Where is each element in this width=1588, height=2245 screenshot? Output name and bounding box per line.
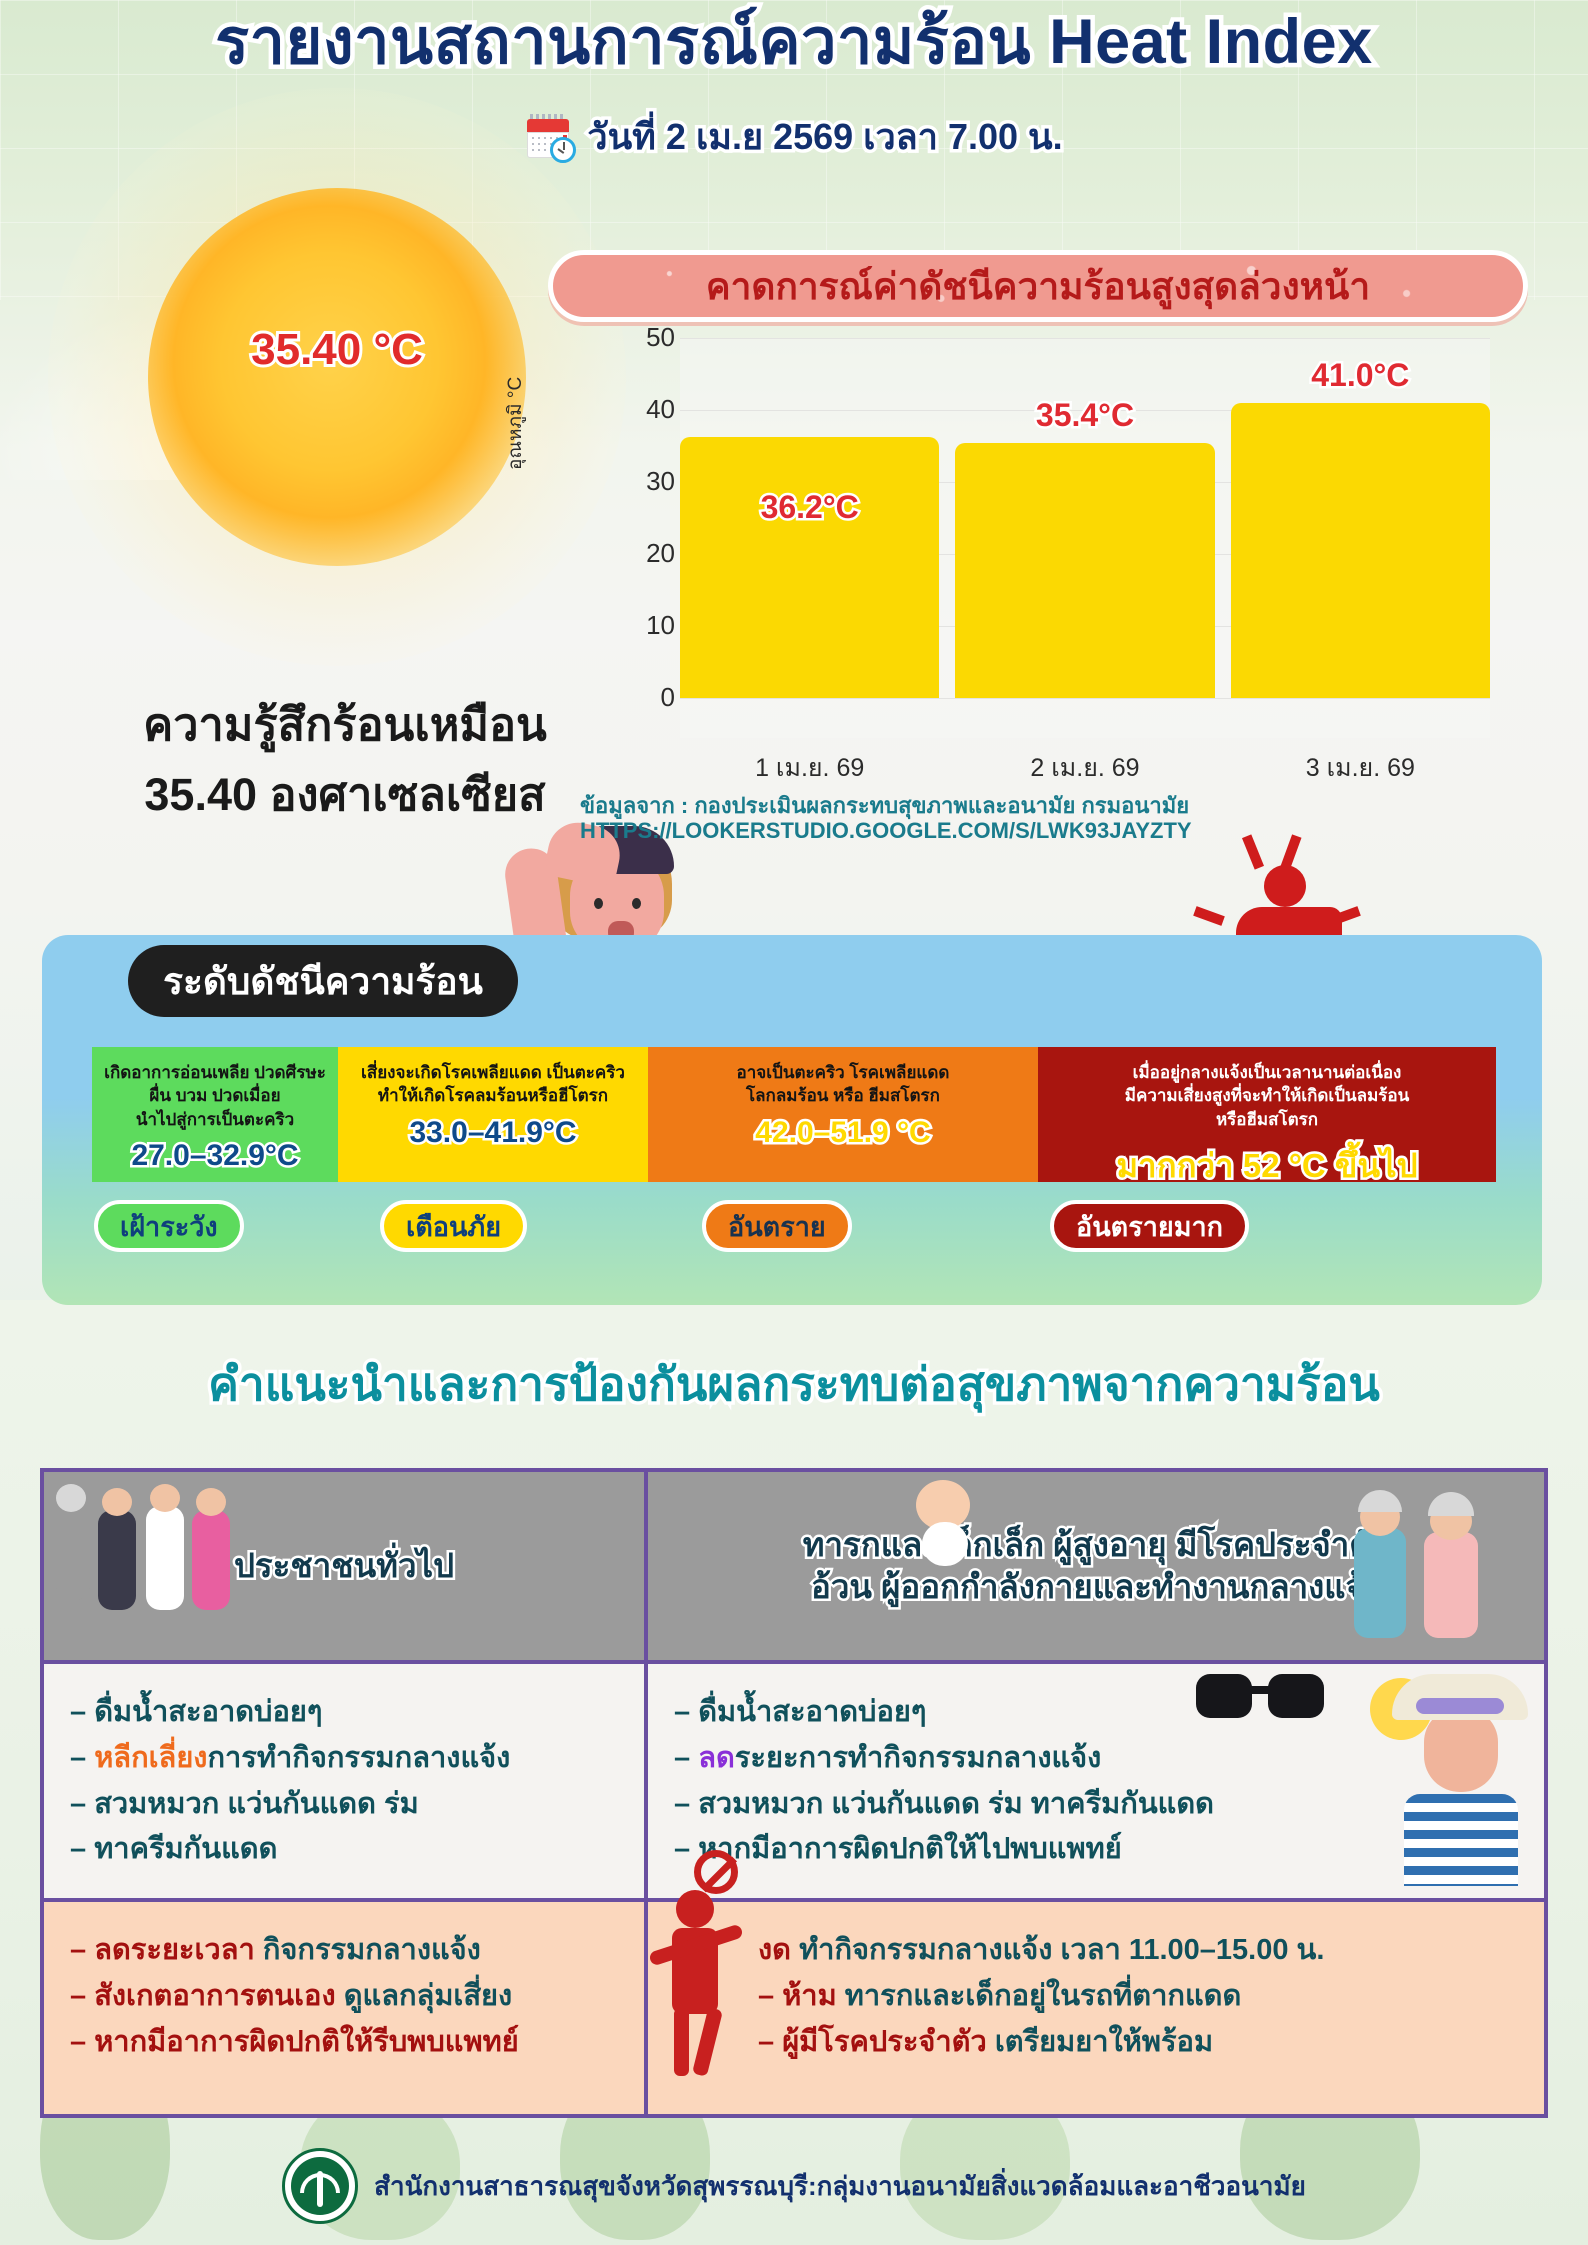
chart-x-axis-labels: 1 เม.ย. 692 เม.ย. 693 เม.ย. 69: [680, 748, 1490, 788]
advice-general-warning-cell: – ลดระยะเวลา กิจกรรมกลางแจ้ง– สังเกตอากา…: [44, 1902, 648, 2114]
elderly-couple-illustration: [1344, 1476, 1534, 1656]
heat-band-extreme-danger: เมื่ออยู่กลางแจ้งเป็นเวลานานต่อเนื่อง มี…: [1038, 1047, 1496, 1182]
chart-bar-value-label: 35.4°C: [955, 397, 1214, 434]
advice-text-part: ลดระยะเวลา: [94, 1934, 263, 1966]
chart-y-tick-label: 0: [555, 682, 675, 713]
chart-y-tick-label: 50: [555, 322, 675, 353]
advice-list-item: – หากมีอาการผิดปกติให้รีบพบแพทย์: [70, 2020, 630, 2066]
baby-illustration: [898, 1474, 1006, 1570]
chart-bar[interactable]: 41.0°C: [1231, 403, 1490, 698]
advice-header-risk: ทารกและเด็กเล็ก ผู้สูงอายุ มีโรคประจำตัว…: [648, 1472, 1544, 1660]
chart-y-tick-label: 30: [555, 466, 675, 497]
advice-header-general-text: ประชาชนทั่วไป: [234, 1545, 454, 1587]
feels-like-label: ความรู้สึกร้อนเหมือน: [60, 688, 630, 760]
advice-list-item: – ดื่มน้ำสะอาดบ่อยๆ: [70, 1690, 630, 1736]
advice-list-item: – สังเกตอาการตนเอง ดูแลกลุ่มเสี่ยง: [70, 1974, 630, 2020]
forecast-banner-title: คาดการณ์ค่าดัชนีความร้อนสูงสุดล่วงหน้า: [706, 257, 1370, 316]
heat-band-pill-danger[interactable]: อันตราย: [702, 1200, 852, 1252]
advice-text-part: กิจกรรมกลางแจ้ง: [263, 1934, 481, 1966]
advice-table-body-row: – ดื่มน้ำสะอาดบ่อยๆ– หลีกเลี่ยงการทำกิจก…: [44, 1660, 1544, 1898]
advice-bullet: –: [674, 1788, 698, 1820]
advice-text-part: ทำกิจกรรมกลางแจ้ง เวลา 11.00–15.00 น.: [799, 1934, 1324, 1966]
advice-header-general: ประชาชนทั่วไป: [44, 1472, 648, 1660]
chart-bar-column: 41.0°C: [1231, 338, 1490, 698]
chart-source-line-2: HTTPS://LOOKERSTUDIO.GOOGLE.COM/S/LWK93J…: [580, 818, 1580, 844]
advice-text-part: สวมหมวก แว่นกันแดด ร่ม: [94, 1788, 419, 1820]
heat-band-pill-warning[interactable]: เตือนภัย: [380, 1200, 527, 1252]
advice-table-header-row: ประชาชนทั่วไป ทารกและเด็กเล็ก ผู้สูงอายุ…: [44, 1472, 1544, 1660]
sunglasses-icon: [1196, 1674, 1324, 1720]
chart-bar[interactable]: 35.4°C: [955, 443, 1214, 698]
advice-risk-cell: – ดื่มน้ำสะอาดบ่อยๆ– ลดระยะการทำกิจกรรมก…: [648, 1664, 1544, 1898]
advice-general-warning-list: – ลดระยะเวลา กิจกรรมกลางแจ้ง– สังเกตอากา…: [44, 1902, 644, 2065]
advice-text-part: สวมหมวก แว่นกันแดด ร่ม ทาครีมกันแดด: [698, 1788, 1214, 1820]
advice-bullet: –: [674, 1742, 698, 1774]
advice-table-warning-row: – ลดระยะเวลา กิจกรรมกลางแจ้ง– สังเกตอากา…: [44, 1898, 1544, 2114]
advice-bullet: –: [70, 1696, 94, 1728]
advice-list-item: – สวมหมวก แว่นกันแดด ร่ม: [70, 1782, 630, 1828]
advice-text-part: ทาครีมกันแดด: [94, 1833, 277, 1865]
heat-band-range: 33.0–41.9°C: [409, 1116, 576, 1150]
advice-text-part: ดูแลกลุ่มเสี่ยง: [344, 1980, 513, 2012]
chart-x-tick-label: 2 เม.ย. 69: [955, 748, 1214, 788]
heat-band-description: เมื่ออยู่กลางแจ้งเป็นเวลานานต่อเนื่อง มี…: [1125, 1061, 1410, 1131]
heat-band-description: อาจเป็นตะคริว โรคเพลียแดด โลกลมร้อน หรือ…: [737, 1061, 950, 1108]
heat-band-pill-watch[interactable]: เฝ้าระวัง: [94, 1200, 244, 1252]
advice-text-part: ดื่มน้ำสะอาดบ่อยๆ: [94, 1696, 322, 1728]
advice-bullet: –: [70, 1742, 94, 1774]
advice-list-item: – ห้าม ทารกและเด็กอยู่ในรถที่ตากแดด: [758, 1974, 1530, 2020]
advice-risk-warning-cell: งด ทำกิจกรรมกลางแจ้ง เวลา 11.00–15.00 น.…: [648, 1902, 1544, 2114]
advice-bullet: –: [70, 1934, 94, 1966]
advice-text-part: ดื่มน้ำสะอาดบ่อยๆ: [698, 1696, 926, 1728]
advice-text-part: ผู้มีโรคประจำตัว: [782, 2026, 995, 2058]
advice-header-risk-text: ทารกและเด็กเล็ก ผู้สูงอายุ มีโรคประจำตัว…: [803, 1524, 1390, 1608]
ministry-of-public-health-logo: [282, 2148, 358, 2224]
chart-bars: 36.2°C35.4°C41.0°C: [680, 338, 1490, 698]
heat-level-bands: เกิดอาการอ่อนเพลีย ปวดศีรษะ ผื่น บวม ปวด…: [92, 1047, 1496, 1182]
main-title-text: รายงานสถานการณ์ความร้อน Heat Index: [0, 8, 1588, 77]
heat-band-range: 42.0–51.9 °C: [755, 1116, 930, 1150]
chart-bar-column: 35.4°C: [955, 338, 1214, 698]
chart-bar-value-label: 41.0°C: [1231, 357, 1490, 394]
advice-text-part: เตรียมยาให้พร้อม: [995, 2026, 1213, 2058]
advice-list-item: – ลดระยะเวลา กิจกรรมกลางแจ้ง: [70, 1928, 630, 1974]
heat-band-warning: เสี่ยงจะเกิดโรคเพลียแดด เป็นตะคริว ทำให้…: [338, 1047, 648, 1182]
advice-general-list: – ดื่มน้ำสะอาดบ่อยๆ– หลีกเลี่ยงการทำกิจก…: [44, 1664, 644, 1873]
advice-bullet: –: [674, 1696, 698, 1728]
heat-band-range: มากกว่า 52 °C ขึ้นไป: [1116, 1139, 1417, 1192]
advice-list-item: – ผู้มีโรคประจำตัว เตรียมยาให้พร้อม: [758, 2020, 1530, 2066]
girl-with-hat-illustration: [1386, 1670, 1536, 1885]
heat-band-pill-extreme-danger[interactable]: อันตรายมาก: [1050, 1200, 1249, 1252]
advice-text-part: หลีกเลี่ยง: [94, 1742, 207, 1774]
current-temperature: 35.40 °C: [148, 325, 526, 375]
chart-y-axis-title: อุณหภูมิ °C: [500, 377, 530, 470]
calendar-clock-icon: [525, 113, 573, 161]
advice-text-part: ระยะการทำกิจกรรมกลางแจ้ง: [735, 1742, 1102, 1774]
advice-bullet: –: [70, 1833, 94, 1865]
forecast-banner: คาดการณ์ค่าดัชนีความร้อนสูงสุดล่วงหน้า: [548, 250, 1528, 322]
advice-text-part: หากมีอาการผิดปกติให้รีบพบแพทย์: [94, 2026, 519, 2058]
chart-x-tick-label: 3 เม.ย. 69: [1231, 748, 1490, 788]
advice-risk-warning-list: งด ทำกิจกรรมกลางแจ้ง เวลา 11.00–15.00 น.…: [648, 1902, 1544, 2065]
advice-general-cell: – ดื่มน้ำสะอาดบ่อยๆ– หลีกเลี่ยงการทำกิจก…: [44, 1664, 648, 1898]
advice-table: ประชาชนทั่วไป ทารกและเด็กเล็ก ผู้สูงอายุ…: [40, 1468, 1548, 2118]
chart-bar-value-label: 36.2°C: [680, 489, 939, 526]
advice-bullet: –: [70, 2026, 94, 2058]
advice-text-part: การทำกิจกรรมกลางแจ้ง: [207, 1742, 510, 1774]
chart-x-tick-label: 1 เม.ย. 69: [680, 748, 939, 788]
advice-section-title: คำแนะนำและการป้องกันผลกระทบต่อสุขภาพจากค…: [0, 1348, 1588, 1421]
infographic-page: รายงานสถานการณ์ความร้อน Heat Index วันที…: [0, 0, 1588, 2245]
advice-text-part: สังเกตอาการตนเอง: [94, 1980, 344, 2012]
heat-level-badge: ระดับดัชนีความร้อน: [128, 945, 518, 1017]
chart-bar[interactable]: 36.2°C: [680, 437, 939, 698]
advice-text-part: ทารกและเด็กอยู่ในรถที่ตากแดด: [845, 1980, 1242, 2012]
chart-y-tick-label: 40: [555, 394, 675, 425]
heat-level-badge-label: ระดับดัชนีความร้อน: [163, 952, 483, 1011]
sun-graphic: [148, 188, 526, 566]
heat-band-description: เกิดอาการอ่อนเพลีย ปวดศีรษะ ผื่น บวม ปวด…: [104, 1061, 326, 1131]
report-date-text: วันที่ 2 เม.ย 2569 เวลา 7.00 น.: [587, 108, 1062, 165]
advice-text-part: ลด: [698, 1742, 735, 1774]
no-outdoor-activity-icon: [636, 1846, 766, 2076]
heat-band-danger: อาจเป็นตะคริว โรคเพลียแดด โลกลมร้อน หรือ…: [648, 1047, 1038, 1182]
heat-band-range: 27.0–32.9°C: [131, 1139, 298, 1173]
heat-band-watch: เกิดอาการอ่อนเพลีย ปวดศีรษะ ผื่น บวม ปวด…: [92, 1047, 338, 1182]
crowd-illustration: [50, 1470, 240, 1656]
page-title: รายงานสถานการณ์ความร้อน Heat Index: [0, 8, 1588, 77]
advice-bullet: –: [70, 1788, 94, 1820]
chart-bar-column: 36.2°C: [680, 338, 939, 698]
advice-list-item: งด ทำกิจกรรมกลางแจ้ง เวลา 11.00–15.00 น.: [758, 1928, 1530, 1974]
heat-level-pills: เฝ้าระวังเตือนภัยอันตรายอันตรายมาก: [92, 1200, 1496, 1258]
advice-list-item: – หลีกเลี่ยงการทำกิจกรรมกลางแจ้ง: [70, 1736, 630, 1782]
chart-y-tick-label: 20: [555, 538, 675, 569]
chart-y-tick-label: 10: [555, 610, 675, 641]
advice-bullet: –: [70, 1980, 94, 2012]
heat-band-description: เสี่ยงจะเกิดโรคเพลียแดด เป็นตะคริว ทำให้…: [361, 1061, 625, 1108]
advice-list-item: – ทาครีมกันแดด: [70, 1827, 630, 1873]
footer-text: สำนักงานสาธารณสุขจังหวัดสุพรรณบุรี:กลุ่ม…: [374, 2166, 1306, 2207]
advice-text-part: ห้าม: [782, 1980, 845, 2012]
footer: สำนักงานสาธารณสุขจังหวัดสุพรรณบุรี:กลุ่ม…: [0, 2140, 1588, 2232]
chart-gridline: [680, 698, 1490, 699]
